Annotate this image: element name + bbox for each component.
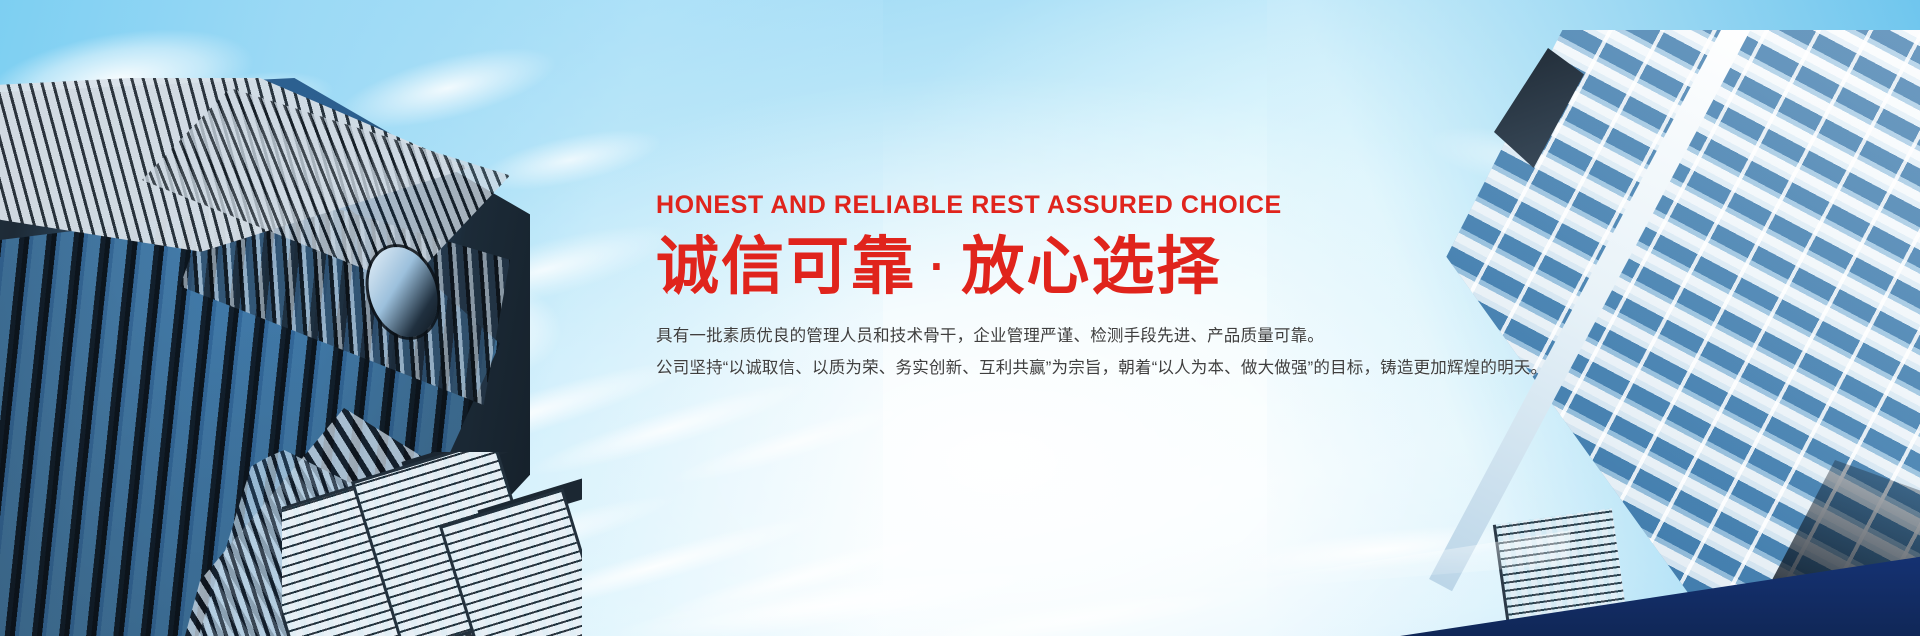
banner-headline: 诚信可靠·放心选择 (656, 230, 1496, 304)
banner-copy: HONEST AND RELIABLE REST ASSURED CHOICE … (656, 192, 1496, 384)
stepped-building (282, 452, 582, 636)
description-line-2: 公司坚持“以诚取信、以质为荣、务实创新、互利共赢”为宗旨，朝着“以人为本、做大做… (656, 352, 1496, 384)
headline-left: 诚信可靠 (656, 232, 916, 302)
headline-separator: · (916, 240, 961, 292)
banner-description: 具有一批素质优良的管理人员和技术骨干，企业管理严谨、检测手段先进、产品质量可靠。… (656, 320, 1496, 384)
banner-eyebrow: HONEST AND RELIABLE REST ASSURED CHOICE (656, 192, 1496, 220)
hero-banner: HONEST AND RELIABLE REST ASSURED CHOICE … (0, 0, 1920, 636)
headline-right: 放心选择 (961, 232, 1221, 302)
description-line-1: 具有一批素质优良的管理人员和技术骨干，企业管理严谨、检测手段先进、产品质量可靠。 (656, 320, 1496, 352)
